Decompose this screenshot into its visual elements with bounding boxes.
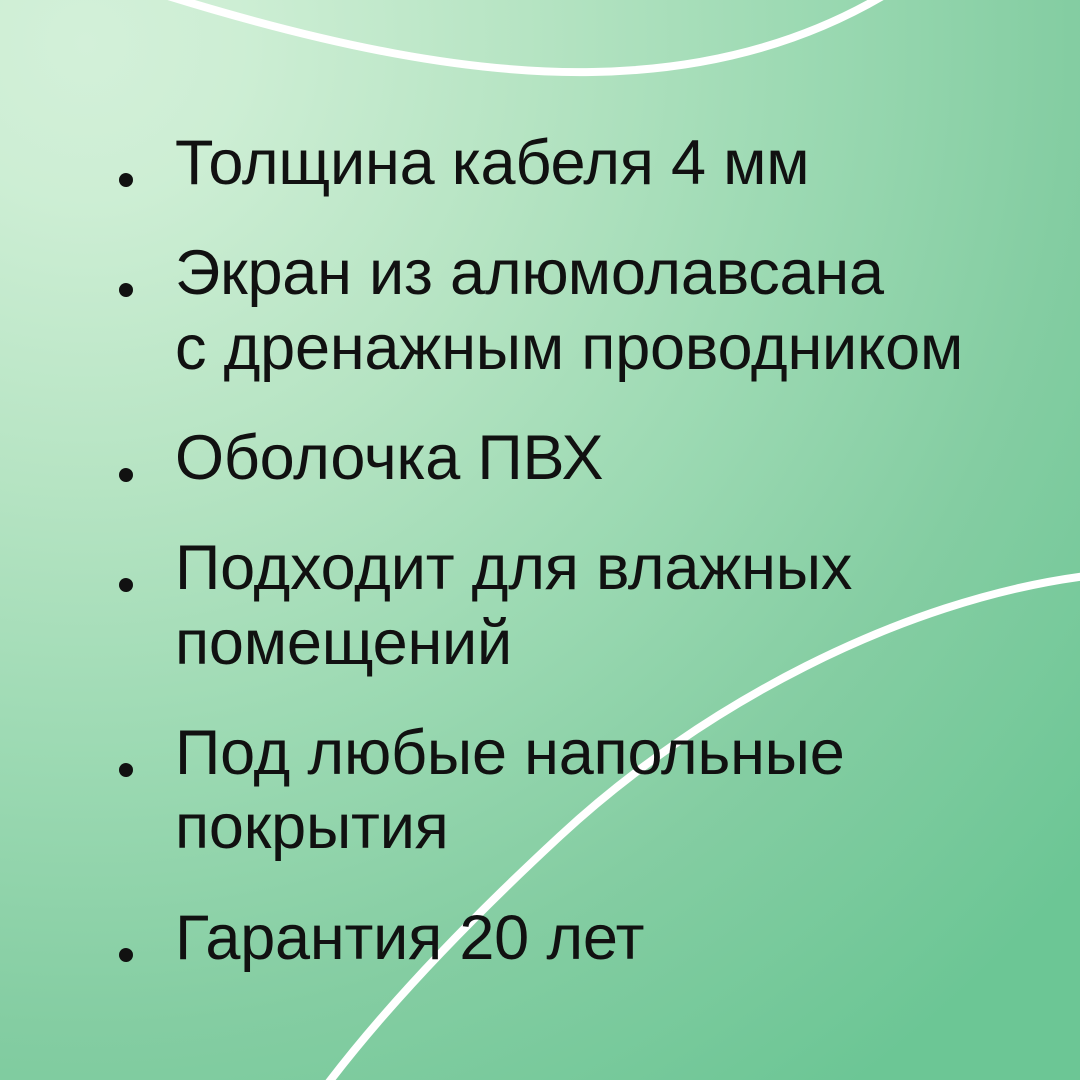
list-item-label: Оболочка ПВХ	[175, 421, 1040, 495]
list-item-label: Толщина кабеля 4 мм	[175, 126, 1040, 200]
bullet-icon	[119, 283, 133, 297]
bullet-icon	[119, 948, 133, 962]
list-item: Толщина кабеля 4 мм	[112, 126, 1040, 200]
list-item-label: Под любые напольные покрытия	[175, 716, 1040, 865]
promo-slide: Толщина кабеля 4 мм Экран из алюмолавсан…	[0, 0, 1080, 1080]
list-item-label: Экран из алюмолавсана с дренажным провод…	[175, 236, 1040, 385]
bullet-icon	[119, 468, 133, 482]
bullet-icon	[119, 173, 133, 187]
bullet-icon	[119, 763, 133, 777]
list-item: Подходит для влажных помещений	[112, 531, 1040, 680]
list-item-label: Подходит для влажных помещений	[175, 531, 1040, 680]
bullet-icon	[119, 578, 133, 592]
feature-list: Толщина кабеля 4 мм Экран из алюмолавсан…	[112, 126, 1040, 975]
list-item: Под любые напольные покрытия	[112, 716, 1040, 865]
list-item: Экран из алюмолавсана с дренажным провод…	[112, 236, 1040, 385]
list-item-label: Гарантия 20 лет	[175, 901, 1040, 975]
list-item: Гарантия 20 лет	[112, 901, 1040, 975]
top-arc-line	[168, 0, 886, 72]
list-item: Оболочка ПВХ	[112, 421, 1040, 495]
